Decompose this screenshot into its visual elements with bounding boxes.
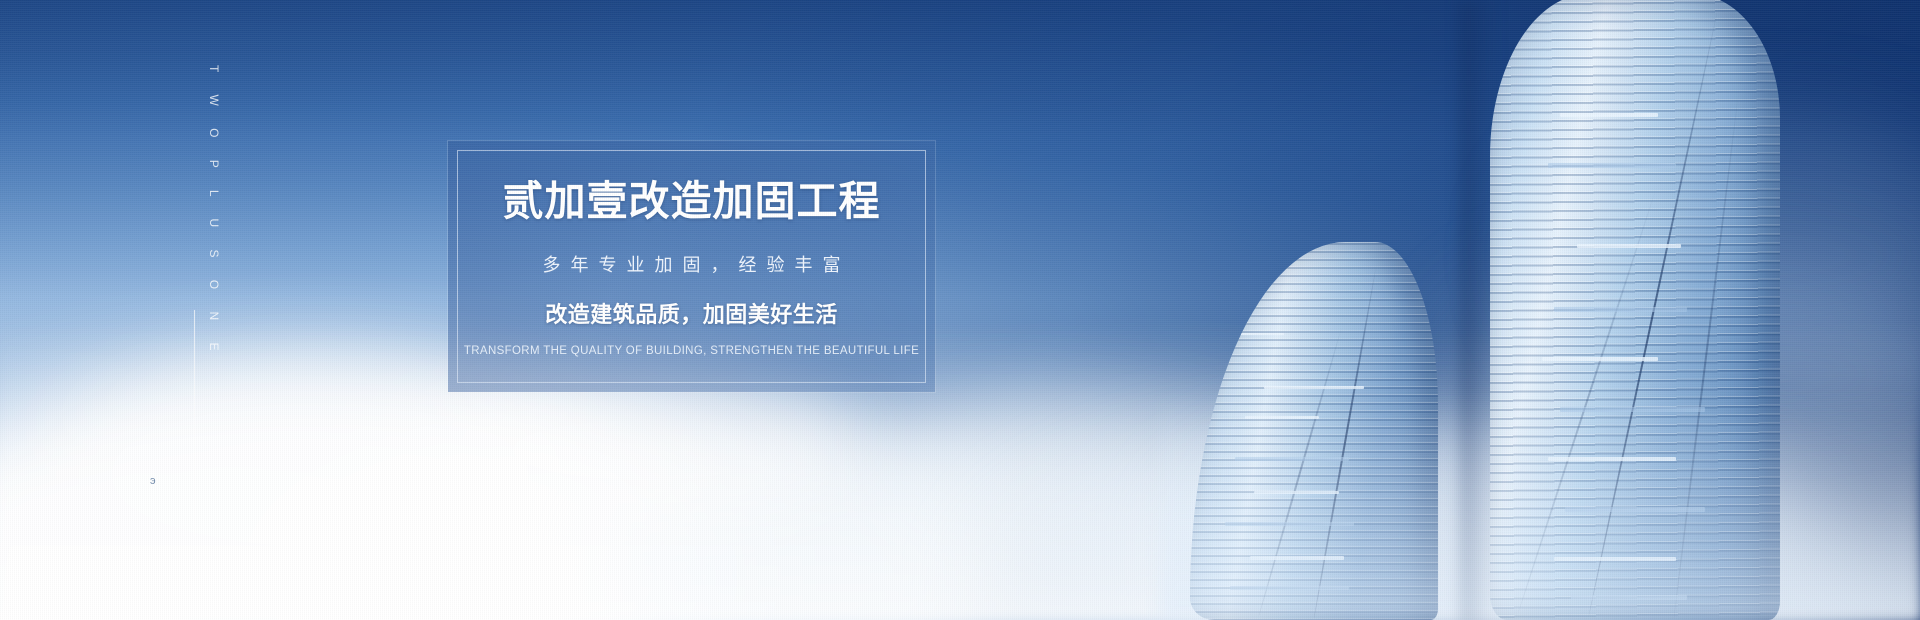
panel-content: 贰加壹改造加固工程 多年专业加固，经验丰富 改造建筑品质，加固美好生活 TRAN… xyxy=(448,141,935,392)
tower-window-light xyxy=(1240,333,1285,335)
tower-window-light xyxy=(1554,307,1687,312)
brand-small-mark: э xyxy=(150,475,161,487)
brand-divider-line xyxy=(194,310,195,620)
skyscraper-group xyxy=(1160,0,1920,620)
tower-window-light xyxy=(1264,386,1363,389)
brand-vertical-text: T W O P L U S O N E xyxy=(207,65,221,305)
tower-window-light xyxy=(1548,163,1676,168)
tower-window-light xyxy=(1560,113,1659,117)
page-slogan-english: TRANSFORM THE QUALITY OF BUILDING, STREN… xyxy=(464,346,919,358)
page-subtitle: 多年专业加固，经验丰富 xyxy=(533,256,851,274)
page-title: 贰加壹改造加固工程 xyxy=(503,181,881,222)
brand-vertical-block: T W O P L U S O N E э xyxy=(180,60,210,560)
tower-window-light xyxy=(1542,357,1658,361)
hero-banner: T W O P L U S O N E э 贰加壹改造加固工程 多年专业加固，经… xyxy=(0,0,1920,620)
tower-base-haze xyxy=(1160,390,1920,620)
hero-text-panel: 贰加壹改造加固工程 多年专业加固，经验丰富 改造建筑品质，加固美好生活 TRAN… xyxy=(448,141,935,392)
tower-window-light xyxy=(1577,244,1681,248)
page-slogan: 改造建筑品质，加固美好生活 xyxy=(545,304,838,326)
